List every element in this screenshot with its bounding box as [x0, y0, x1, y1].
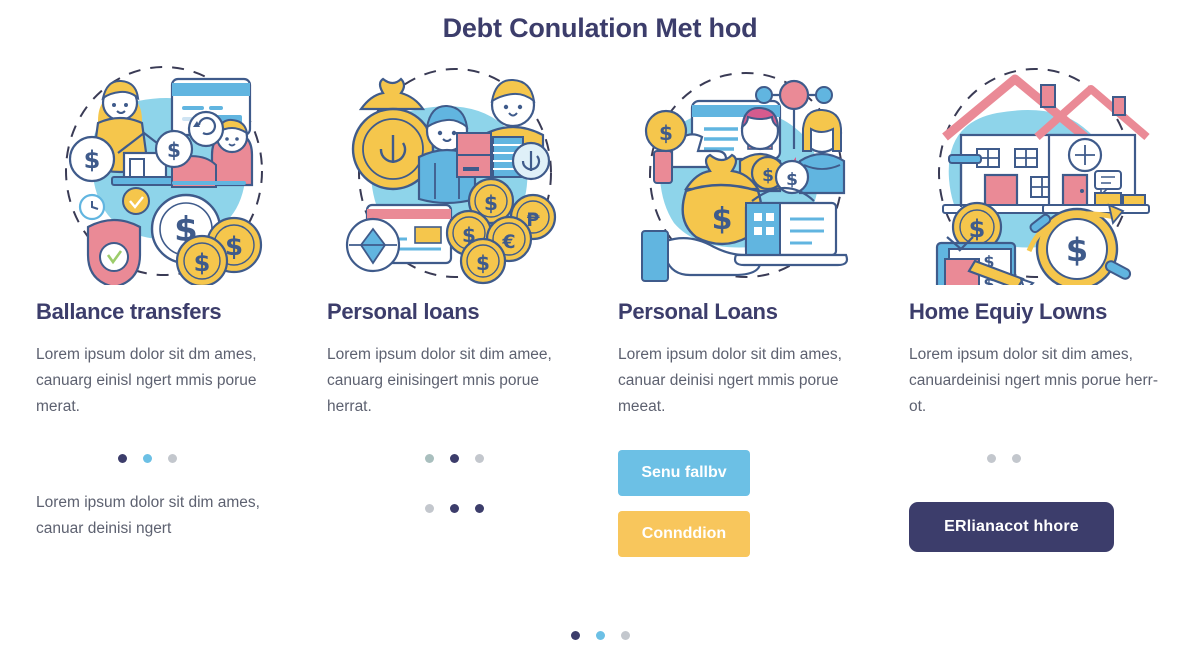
dot-1[interactable]: [118, 454, 127, 463]
secondary-action-button[interactable]: Connddion: [618, 511, 750, 557]
card-heading: Personal loans: [327, 286, 582, 342]
illustration-container: $ $ $: [618, 48, 873, 286]
pagination-dots[interactable]: [327, 438, 582, 478]
cards-row: $ $: [0, 48, 1200, 572]
carousel-pagination-dots[interactable]: [0, 631, 1200, 640]
pagination-dots[interactable]: [909, 438, 1164, 478]
balance-transfers-illustration: $ $: [46, 49, 282, 285]
page-title: Debt Conulation Met hod: [0, 0, 1200, 48]
svg-text:$: $: [83, 146, 100, 174]
svg-text:€: €: [501, 231, 515, 253]
pagination-dots[interactable]: [36, 438, 291, 478]
card-body-text: Lorem ipsum dolor sit dim ames, canuar d…: [618, 342, 873, 438]
svg-text:$: $: [1065, 231, 1087, 269]
dot-2[interactable]: [450, 454, 459, 463]
dot-3[interactable]: [475, 504, 484, 513]
dot-1[interactable]: [571, 631, 580, 640]
card-heading: Home Equiy Lowns: [909, 286, 1164, 342]
primary-action-button[interactable]: Senu fallbv: [618, 450, 750, 496]
card-balance-transfers: $ $: [18, 48, 309, 572]
svg-text:$: $: [786, 170, 798, 190]
dot-1[interactable]: [987, 454, 996, 463]
card-body-text: Lorem ipsum dolor sit dim ames, canuarde…: [909, 342, 1164, 438]
card-sub-body-text: Lorem ipsum dolor sit dim ames, canuar d…: [36, 478, 291, 542]
card-heading: Ballance transfers: [36, 286, 291, 342]
svg-text:$: $: [167, 138, 181, 162]
svg-text:$: $: [476, 251, 490, 275]
dot-2[interactable]: [143, 454, 152, 463]
pagination-dots-secondary[interactable]: [327, 478, 582, 518]
cta-container: ERlianacot hhore: [909, 478, 1164, 552]
svg-text:$: $: [484, 191, 498, 215]
personal-loans-hand-illustration: $ $ $: [628, 49, 864, 285]
dot-2[interactable]: [450, 504, 459, 513]
dot-2[interactable]: [596, 631, 605, 640]
svg-text:$: $: [659, 121, 673, 145]
card-heading: Personal Loans: [618, 286, 873, 342]
card-personal-loans: $ ₱ $ € $ Personal loans Lorem ipsum dol…: [309, 48, 600, 572]
illustration-container: $ ₱ $ € $: [327, 48, 582, 286]
svg-text:$: $: [193, 249, 210, 277]
dot-2[interactable]: [1012, 454, 1021, 463]
illustration-container: $ $ $ $: [909, 48, 1164, 286]
cta-button[interactable]: ERlianacot hhore: [909, 502, 1114, 552]
card-personal-loans-alt: $ $ $: [600, 48, 891, 572]
dot-3[interactable]: [475, 454, 484, 463]
home-equity-illustration: $ $ $ $: [919, 49, 1155, 285]
dot-1[interactable]: [425, 504, 434, 513]
illustration-container: $ $: [36, 48, 291, 286]
card-home-equity: $ $ $ $ Home Equiy Lowns: [891, 48, 1182, 572]
card-body-text: Lorem ipsum dolor sit dm ames, canuarg e…: [36, 342, 291, 438]
card-body-text: Lorem ipsum dolor sit dim amee, canuarg …: [327, 342, 582, 438]
svg-text:$: $: [762, 166, 774, 186]
personal-loans-illustration: $ ₱ $ € $: [337, 49, 573, 285]
dot-3[interactable]: [168, 454, 177, 463]
button-stack: Senu fallbv Connddion: [618, 438, 873, 557]
svg-text:$: $: [711, 202, 732, 237]
dot-1[interactable]: [425, 454, 434, 463]
dot-3[interactable]: [621, 631, 630, 640]
